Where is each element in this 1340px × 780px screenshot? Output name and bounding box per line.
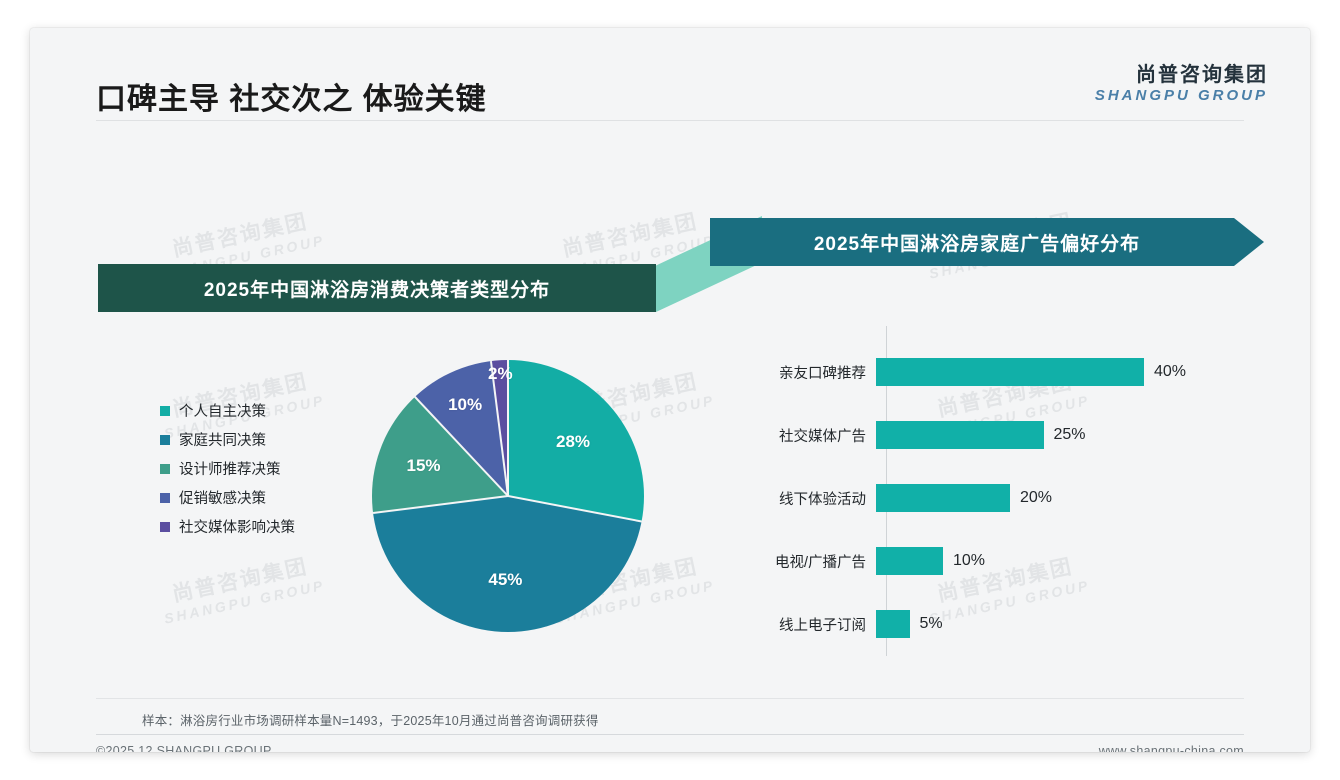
bar-chart-row: 亲友口碑推荐40% bbox=[690, 356, 1265, 388]
legend-label: 个人自主决策 bbox=[179, 400, 266, 421]
legend-item: 家庭共同决策 bbox=[160, 425, 295, 454]
chart-title-banner-left: 2025年中国淋浴房消费决策者类型分布 bbox=[98, 264, 656, 312]
legend-item: 促销敏感决策 bbox=[160, 483, 295, 512]
bar-rect[interactable] bbox=[876, 484, 1010, 512]
pie-value-label: 10% bbox=[448, 395, 482, 415]
pie-chart-panel: 个人自主决策 家庭共同决策 设计师推荐决策 促销敏感决策 社交媒体影响决策 bbox=[98, 328, 658, 668]
slide-canvas: 尚普咨询集团 SHANGPU GROUP 尚普咨询集团 SHANGPU GROU… bbox=[30, 28, 1310, 752]
bar-chart-panel: 亲友口碑推荐40%社交媒体广告25%线下体验活动20%电视/广播广告10%线上电… bbox=[690, 318, 1265, 668]
bar-value-label: 40% bbox=[1154, 363, 1186, 381]
bar-rect[interactable] bbox=[876, 421, 1044, 449]
legend-item: 个人自主决策 bbox=[160, 396, 295, 425]
legend-label: 设计师推荐决策 bbox=[179, 458, 281, 479]
legend-swatch-icon bbox=[160, 522, 170, 532]
pie-chart: 28%45%15%10%2% bbox=[372, 360, 644, 632]
footer-divider bbox=[96, 734, 1244, 735]
bar-value-label: 5% bbox=[920, 615, 943, 633]
page-title: 口碑主导 社交次之 体验关键 bbox=[96, 74, 487, 118]
footer-copyright: ©2025.12 SHANGPU GROUP bbox=[96, 744, 272, 752]
legend-label: 家庭共同决策 bbox=[179, 429, 266, 450]
legend-item: 社交媒体影响决策 bbox=[160, 512, 295, 541]
bar-category-label: 亲友口碑推荐 bbox=[690, 362, 876, 383]
bar-value-label: 25% bbox=[1054, 426, 1086, 444]
pie-value-label: 28% bbox=[556, 432, 590, 452]
bar-chart-row: 线下体验活动20% bbox=[690, 482, 1265, 514]
bar-chart-row: 社交媒体广告25% bbox=[690, 419, 1265, 451]
bar-value-label: 20% bbox=[1020, 489, 1052, 507]
pie-value-label: 15% bbox=[406, 456, 440, 476]
bar-category-label: 线下体验活动 bbox=[690, 488, 876, 509]
bar-category-label: 社交媒体广告 bbox=[690, 425, 876, 446]
sample-footnote: 样本：淋浴房行业市场调研样本量N=1493，于2025年10月通过尚普咨询调研获… bbox=[142, 710, 599, 729]
header-divider bbox=[96, 120, 1244, 121]
legend-label: 促销敏感决策 bbox=[179, 487, 266, 508]
slide-header: 口碑主导 社交次之 体验关键 尚普咨询集团 SHANGPU GROUP bbox=[30, 28, 1310, 120]
legend-swatch-icon bbox=[160, 435, 170, 445]
legend-swatch-icon bbox=[160, 406, 170, 416]
watermark-cn: 尚普咨询集团 bbox=[157, 206, 323, 266]
bar-chart-row: 电视/广播广告10% bbox=[690, 545, 1265, 577]
legend-label: 社交媒体影响决策 bbox=[179, 516, 295, 537]
legend-item: 设计师推荐决策 bbox=[160, 454, 295, 483]
logo-text-cn: 尚普咨询集团 bbox=[1095, 64, 1268, 87]
legend-swatch-icon bbox=[160, 493, 170, 503]
bar-rect[interactable] bbox=[876, 610, 910, 638]
bar-rect[interactable] bbox=[876, 547, 943, 575]
pie-value-label: 45% bbox=[488, 570, 522, 590]
bar-category-label: 线上电子订阅 bbox=[690, 614, 876, 635]
logo-text-en: SHANGPU GROUP bbox=[1095, 87, 1268, 105]
brand-logo: 尚普咨询集团 SHANGPU GROUP bbox=[1095, 64, 1268, 105]
footnote-divider bbox=[96, 698, 1244, 699]
bar-value-label: 10% bbox=[953, 552, 985, 570]
legend-swatch-icon bbox=[160, 464, 170, 474]
bar-chart-row: 线上电子订阅5% bbox=[690, 608, 1265, 640]
bar-category-label: 电视/广播广告 bbox=[690, 551, 876, 572]
pie-legend: 个人自主决策 家庭共同决策 设计师推荐决策 促销敏感决策 社交媒体影响决策 bbox=[160, 396, 295, 541]
bar-rect[interactable] bbox=[876, 358, 1144, 386]
footer-website[interactable]: www.shangpu-china.com bbox=[1099, 744, 1244, 752]
pie-value-label: 2% bbox=[488, 364, 513, 384]
chart-title-banner-right: 2025年中国淋浴房家庭广告偏好分布 bbox=[710, 218, 1264, 266]
